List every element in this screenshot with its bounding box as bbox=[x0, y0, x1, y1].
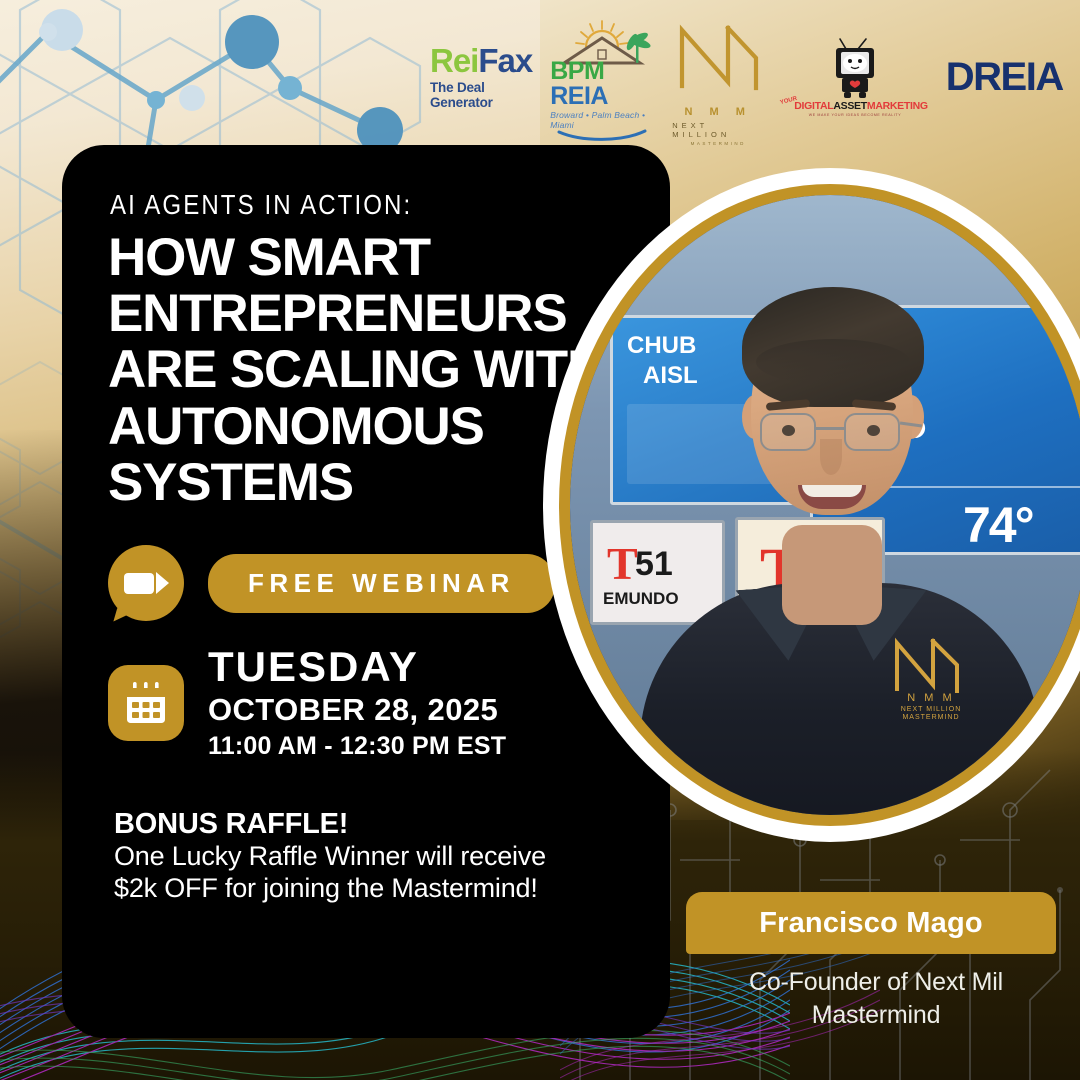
eyebrow-text: AI AGENTS IN ACTION: bbox=[110, 189, 412, 221]
next-million-logo: N M M NEXT MILLION MASTERMIND bbox=[672, 8, 764, 146]
speaker-photo: CHUB AISL OSIDAD RCIAL 81° 74° T 51 EMUN… bbox=[570, 195, 1080, 815]
screen-temp-74: 74° bbox=[963, 496, 1033, 554]
speaker-neck bbox=[782, 525, 882, 625]
bpm-reia-logo: BPM REIA Broward • Palm Beach • Miami bbox=[550, 13, 654, 141]
eyeglasses-lens-right bbox=[844, 413, 900, 451]
raffle-line-2: $2k OFF for joining the Mastermind! bbox=[114, 873, 634, 905]
screen-text-aisl: AISL bbox=[643, 362, 698, 390]
newsroom-screen-left: CHUB AISL bbox=[610, 315, 800, 505]
polo-collar-left bbox=[736, 584, 833, 664]
svg-text:NEXT MILLION: NEXT MILLION bbox=[901, 706, 962, 713]
screen-text-rcial: RCIAL bbox=[827, 350, 894, 376]
screen-text-chub: CHUB bbox=[627, 332, 696, 360]
event-date-row: TUESDAY OCTOBER 28, 2025 11:00 AM - 12:3… bbox=[108, 645, 506, 761]
reia-word: REIA bbox=[550, 82, 608, 110]
bpm-reia-swoosh-icon bbox=[557, 129, 647, 141]
raffle-line-1: One Lucky Raffle Winner will receive bbox=[114, 841, 634, 873]
event-day: TUESDAY bbox=[208, 645, 506, 689]
newsroom-screen-right: OSIDAD RCIAL 81° 74° bbox=[810, 305, 1080, 555]
bonus-raffle-block: BONUS RAFFLE! One Lucky Raffle Winner wi… bbox=[114, 808, 634, 905]
speaker-torso bbox=[640, 583, 1040, 815]
calendar-glyph bbox=[124, 681, 168, 725]
speaker-portrait-figure: N M M NEXT MILLION MASTERMIND bbox=[570, 195, 1080, 815]
svg-text:N M M: N M M bbox=[907, 692, 954, 704]
reifax-logo: ReiFax The Deal Generator bbox=[430, 44, 532, 110]
free-webinar-row: FREE WEBINAR bbox=[108, 545, 555, 621]
screen-telemundo: EMUNDO bbox=[603, 589, 679, 609]
speaker-nose bbox=[820, 439, 842, 475]
bpm-word: BPM bbox=[550, 57, 604, 85]
speaker-mouth bbox=[798, 485, 866, 509]
next-million-line2: MASTERMIND bbox=[691, 141, 746, 146]
screen-telemundo-t: T bbox=[760, 536, 801, 607]
video-camera-bubble bbox=[108, 545, 184, 621]
reifax-word-rei: Rei bbox=[430, 42, 478, 79]
screen-text-osidad: OSIDAD bbox=[827, 322, 913, 348]
dam-word-asset: ASSET bbox=[833, 100, 867, 112]
dam-word-digital: DIGITAL bbox=[794, 100, 833, 112]
speaker-role: Co-Founder of Next Mil Mastermind bbox=[666, 966, 1080, 1032]
reifax-tagline: The Deal Generator bbox=[430, 80, 532, 110]
speaker-ear-right bbox=[898, 395, 924, 439]
dreia-text: DREIA bbox=[946, 55, 1063, 100]
svg-text:MASTERMIND: MASTERMIND bbox=[902, 714, 959, 721]
speaker-photo-image: CHUB AISL OSIDAD RCIAL 81° 74° T 51 EMUN… bbox=[570, 195, 1080, 815]
speaker-name-plate: Francisco Mago bbox=[686, 892, 1056, 954]
newsroom-background bbox=[570, 195, 1080, 815]
event-time: 11:00 AM - 12:30 PM EST bbox=[208, 731, 506, 761]
speaker-eye-left bbox=[782, 425, 795, 436]
speaker-eyebrow-right bbox=[852, 399, 897, 411]
polo-collar-right bbox=[830, 584, 927, 664]
screen-channel-51: 51 bbox=[635, 545, 673, 584]
speaker-head bbox=[751, 303, 913, 515]
dreia-logo: DREIA bbox=[946, 55, 1063, 100]
bpm-reia-tagline: Broward • Palm Beach • Miami bbox=[550, 110, 654, 130]
webinar-poster: ReiFax The Deal Generator bbox=[0, 0, 1080, 1080]
speaker-name: Francisco Mago bbox=[759, 907, 983, 940]
speaker-photo-ring: CHUB AISL OSIDAD RCIAL 81° 74° T 51 EMUN… bbox=[570, 195, 1080, 815]
partner-logo-bar: ReiFax The Deal Generator bbox=[430, 22, 1050, 132]
digital-asset-marketing-logo: YOUR DIGITALASSETMARKETING WE MAKE YOUR … bbox=[782, 37, 928, 118]
eyeglasses-bridge bbox=[816, 427, 844, 430]
screen-temp-81: 81° bbox=[837, 404, 925, 478]
reifax-word-fax: Fax bbox=[478, 42, 532, 79]
speaker-hair bbox=[742, 287, 924, 407]
speaker-role-line-2: Mastermind bbox=[666, 999, 1080, 1032]
free-webinar-badge: FREE WEBINAR bbox=[208, 554, 555, 613]
next-million-line1: NEXT MILLION bbox=[672, 121, 764, 139]
eyeglasses-arm bbox=[900, 421, 922, 427]
dam-word-marketing: MARKETING bbox=[867, 100, 928, 112]
speaker-role-line-1: Co-Founder of Next Mil bbox=[666, 966, 1080, 999]
next-million-initials: N M M bbox=[685, 106, 752, 118]
newsroom-screen-telemundo-logo: T 5 bbox=[735, 517, 885, 632]
next-million-monogram-icon bbox=[672, 8, 764, 104]
speaker-eyebrow-left bbox=[766, 399, 811, 411]
event-date-text: TUESDAY OCTOBER 28, 2025 11:00 AM - 12:3… bbox=[208, 645, 506, 761]
event-full-date: OCTOBER 28, 2025 bbox=[208, 691, 506, 728]
page-title: HOW SMART ENTREPRENEURS ARE SCALING WITH… bbox=[108, 230, 638, 511]
speaker-ear-left bbox=[742, 395, 768, 439]
calendar-icon bbox=[108, 665, 184, 741]
shirt-nmm-logo-icon: N M M NEXT MILLION MASTERMIND bbox=[885, 627, 977, 723]
dam-tagline: WE MAKE YOUR IDEAS BECOME REALITY bbox=[809, 113, 901, 117]
newsroom-screen-telemundo-51: T 51 EMUNDO bbox=[590, 520, 725, 625]
speech-bubble-tail-icon bbox=[113, 608, 132, 626]
eyeglasses-lens-left bbox=[760, 413, 816, 451]
speaker-eye-right bbox=[867, 425, 880, 436]
panda-tv-mascot-icon bbox=[824, 37, 886, 99]
raffle-title: BONUS RAFFLE! bbox=[114, 808, 634, 841]
